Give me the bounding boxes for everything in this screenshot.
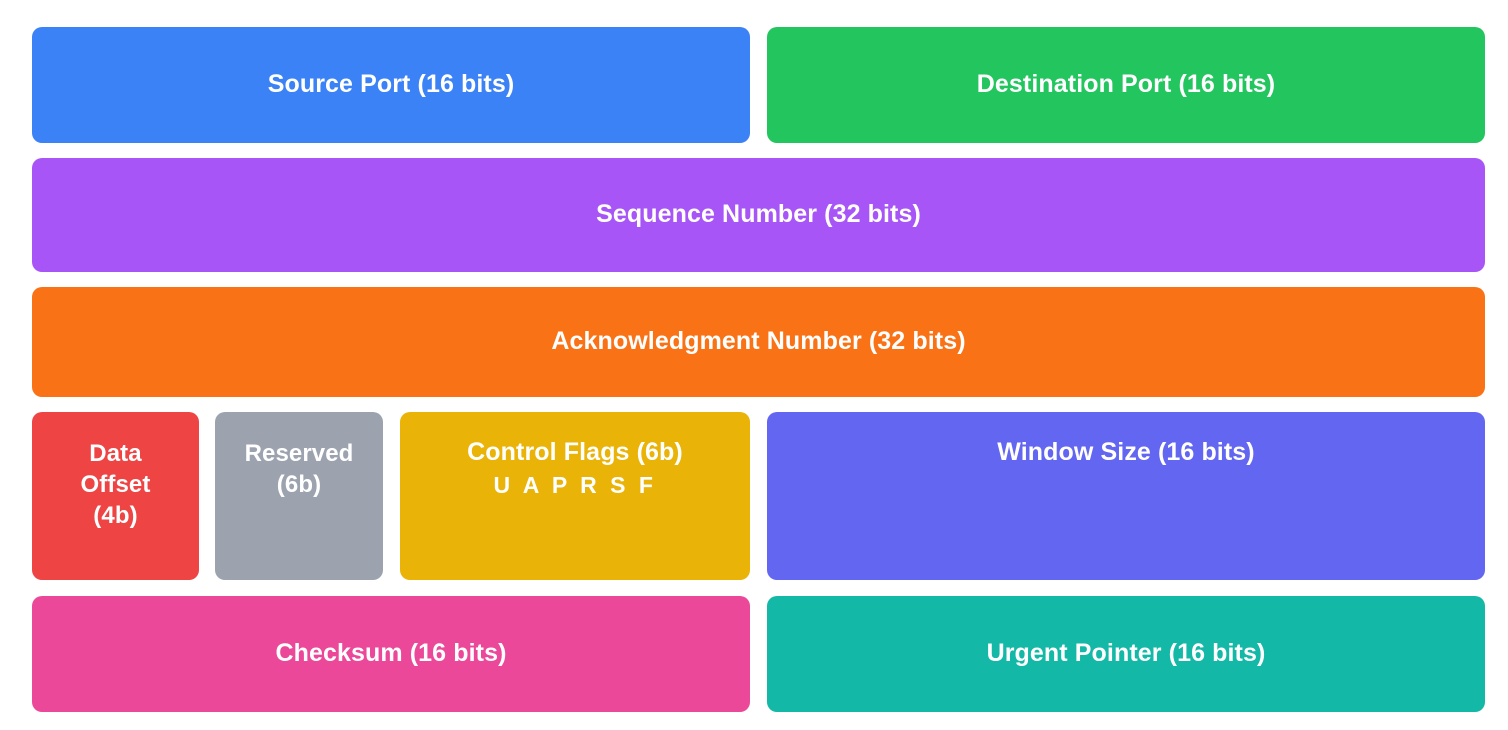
field-control-flags-label: Control Flags (6b)	[467, 438, 683, 468]
field-checksum: Checksum (16 bits)	[32, 596, 750, 712]
field-sequence-number-label: Sequence Number (32 bits)	[596, 200, 921, 230]
field-data-offset-label: Data Offset (4b)	[81, 438, 151, 532]
field-window-size: Window Size (16 bits)	[767, 412, 1485, 580]
field-source-port: Source Port (16 bits)	[32, 27, 750, 143]
field-acknowledgment-number-label: Acknowledgment Number (32 bits)	[551, 327, 965, 357]
field-acknowledgment-number: Acknowledgment Number (32 bits)	[32, 287, 1485, 397]
field-checksum-label: Checksum (16 bits)	[275, 639, 506, 669]
field-sequence-number: Sequence Number (32 bits)	[32, 158, 1485, 272]
field-data-offset: Data Offset (4b)	[32, 412, 199, 580]
field-destination-port-label: Destination Port (16 bits)	[977, 70, 1275, 100]
field-destination-port: Destination Port (16 bits)	[767, 27, 1485, 143]
field-reserved-label: Reserved (6b)	[245, 438, 354, 500]
field-source-port-label: Source Port (16 bits)	[268, 70, 515, 100]
field-control-flags-bits: U A P R S F	[494, 472, 657, 499]
field-urgent-pointer: Urgent Pointer (16 bits)	[767, 596, 1485, 712]
field-window-size-label: Window Size (16 bits)	[997, 438, 1254, 468]
field-urgent-pointer-label: Urgent Pointer (16 bits)	[987, 639, 1266, 669]
tcp-header-diagram: Source Port (16 bits) Destination Port (…	[0, 0, 1508, 730]
field-control-flags: Control Flags (6b) U A P R S F	[400, 412, 750, 580]
field-reserved: Reserved (6b)	[215, 412, 383, 580]
